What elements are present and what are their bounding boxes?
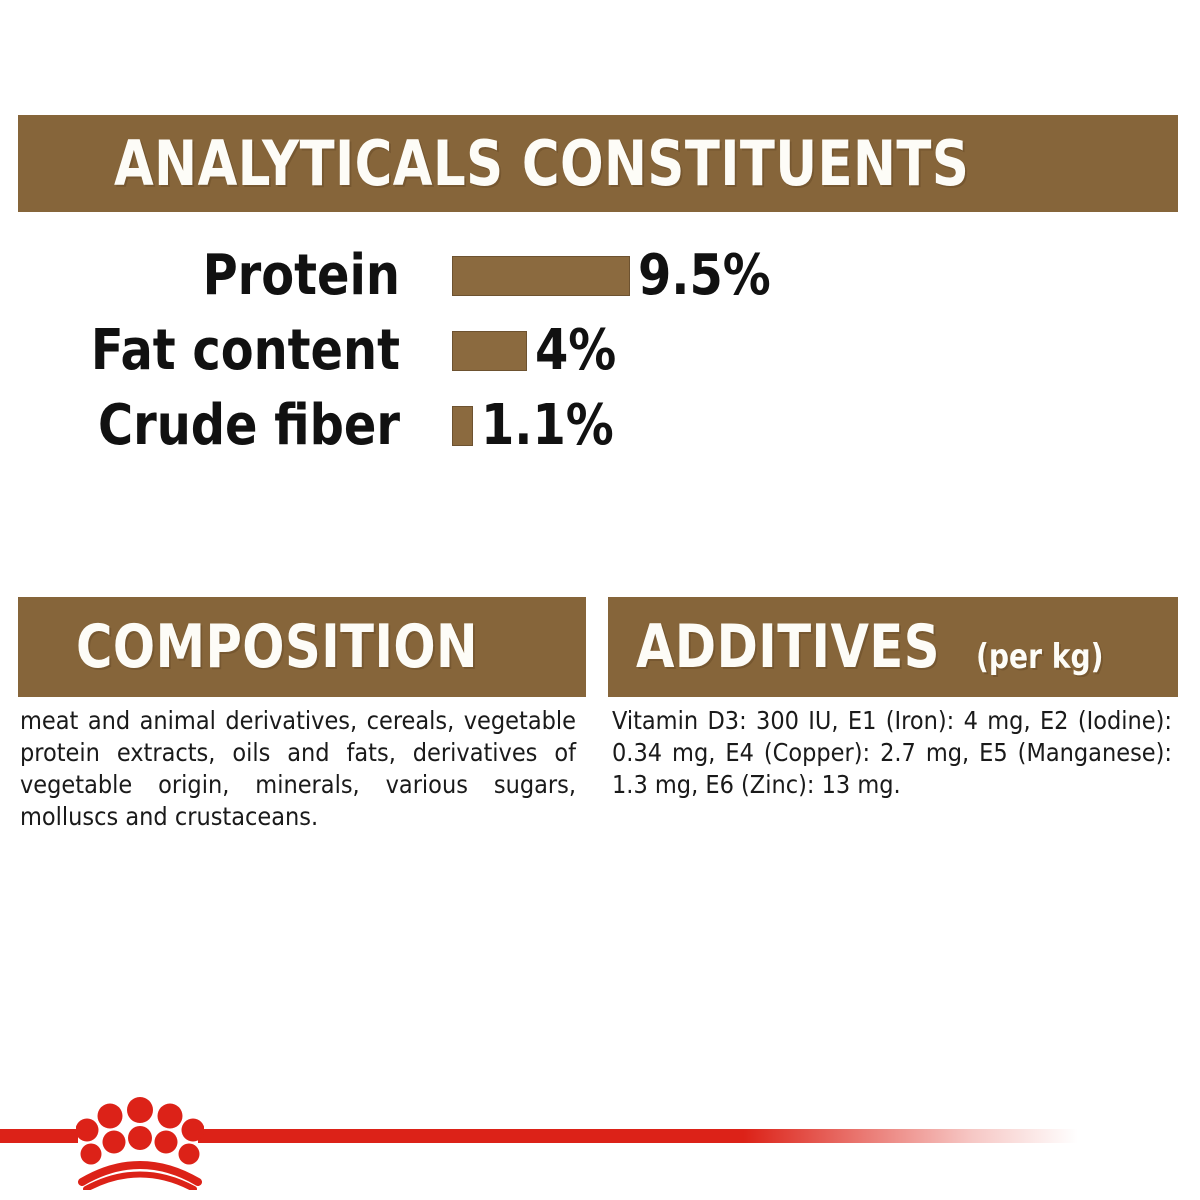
- nutrition-panel: ANALYTICALS CONSTITUENTS Protein 9.5% Fa…: [0, 0, 1200, 1200]
- nutrient-bar-protein: [452, 256, 630, 296]
- analyticals-constituents-chart: Protein 9.5% Fat content 4% Crude fiber …: [0, 238, 1200, 463]
- brand-footer: [0, 1090, 1200, 1200]
- nutrient-value-fat-content: 4%: [535, 323, 616, 379]
- footer-rule-left: [0, 1129, 78, 1143]
- nutrient-bar-group-protein: 9.5%: [452, 248, 778, 304]
- additives-title: ADDITIVES: [636, 617, 940, 677]
- nutrient-row-protein: Protein 9.5%: [0, 238, 1200, 313]
- nutrient-label-fat-content: Fat content: [20, 323, 400, 379]
- composition-text: meat and animal derivatives, cereals, ve…: [20, 705, 576, 833]
- nutrient-label-crude-fiber: Crude fiber: [20, 398, 400, 454]
- page-title: ANALYTICALS CONSTITUENTS: [114, 133, 969, 195]
- nutrient-row-fat-content: Fat content 4%: [0, 313, 1200, 388]
- additives-per-kg-label: (per kg): [976, 640, 1103, 674]
- additives-text: Vitamin D3: 300 IU, E1 (Iron): 4 mg, E2 …: [612, 705, 1172, 801]
- nutrient-bar-group-fat-content: 4%: [452, 323, 621, 379]
- nutrient-row-crude-fiber: Crude fiber 1.1%: [0, 388, 1200, 463]
- composition-banner: COMPOSITION: [18, 597, 586, 697]
- nutrient-bar-crude-fiber: [452, 406, 473, 446]
- analyticals-constituents-banner: ANALYTICALS CONSTITUENTS: [18, 115, 1178, 212]
- additives-banner: ADDITIVES (per kg): [608, 597, 1178, 697]
- composition-title: COMPOSITION: [76, 617, 478, 677]
- nutrient-label-protein: Protein: [20, 248, 400, 304]
- nutrient-bar-group-crude-fiber: 1.1%: [452, 398, 621, 454]
- nutrient-bar-fat-content: [452, 331, 527, 371]
- nutrient-value-crude-fiber: 1.1%: [481, 398, 614, 454]
- footer-rule-right: [198, 1129, 1078, 1143]
- nutrient-value-protein: 9.5%: [638, 248, 771, 304]
- royal-canin-crown-icon: [76, 1090, 204, 1190]
